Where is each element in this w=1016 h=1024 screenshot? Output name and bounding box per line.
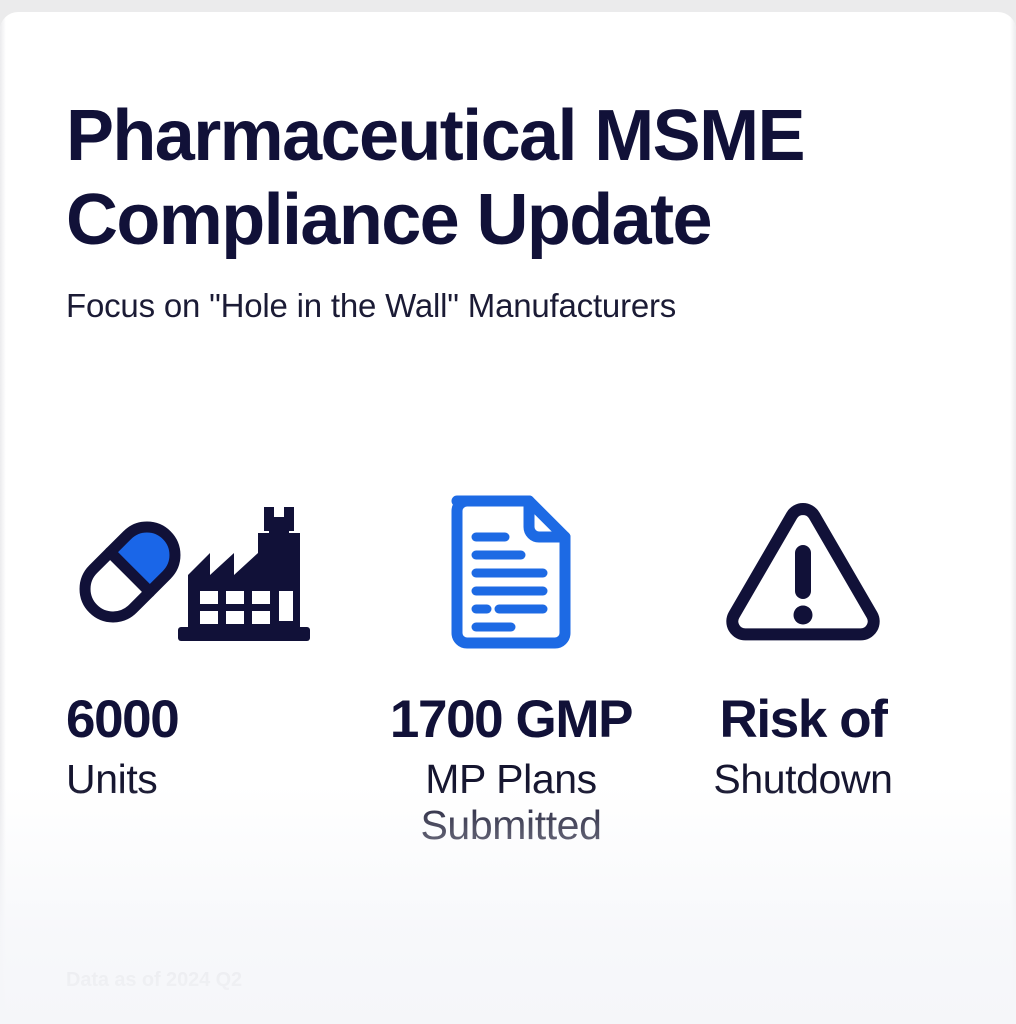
stat-label-units: Units bbox=[66, 756, 157, 802]
card-right-edge-shadow bbox=[1010, 12, 1016, 1024]
page-subtitle: Focus on "Hole in the Wall" Manufacturer… bbox=[66, 286, 936, 326]
stat-card-gmp-plans: 1700 GMP MP Plans Submitted bbox=[366, 482, 656, 848]
warning-triangle-icon bbox=[721, 491, 885, 643]
stat-card-units: 6000 Units bbox=[66, 482, 366, 802]
document-icon bbox=[443, 485, 579, 649]
footer-note: Data as of 2024 Q2 bbox=[66, 969, 242, 992]
infographic-card: Pharmaceutical MSME Compliance Update Fo… bbox=[0, 12, 1016, 1024]
warning-triangle-icon-wrap bbox=[721, 482, 885, 652]
stat-card-shutdown-risk: Risk of Shutdown bbox=[656, 482, 950, 802]
stat-label-shutdown-risk: Shutdown bbox=[713, 756, 892, 802]
page-title: Pharmaceutical MSME Compliance Update bbox=[66, 94, 896, 262]
document-icon-wrap bbox=[443, 482, 579, 652]
stat-value-gmp-plans: 1700 GMP bbox=[390, 690, 632, 750]
stat-label-gmp-line-1: MP Plans bbox=[425, 756, 597, 802]
stat-value-shutdown-risk: Risk of bbox=[720, 690, 887, 750]
stat-label-gmp-plans: MP Plans Submitted bbox=[420, 756, 601, 848]
card-left-edge-shadow bbox=[0, 12, 6, 1024]
pill-factory-icon-wrap bbox=[66, 482, 314, 652]
header-block: Pharmaceutical MSME Compliance Update Fo… bbox=[66, 94, 936, 326]
stat-value-units: 6000 bbox=[66, 690, 178, 750]
stats-row: 6000 Units bbox=[66, 482, 950, 848]
pill-factory-icon bbox=[68, 487, 314, 647]
stat-label-gmp-line-2: Submitted bbox=[420, 802, 601, 848]
